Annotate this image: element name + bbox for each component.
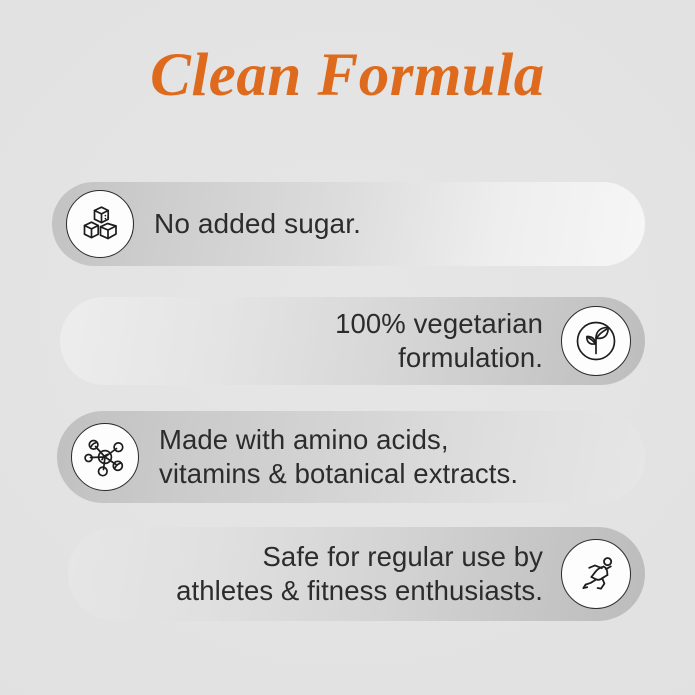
sprout-leaf-icon: [561, 306, 631, 376]
feature-label-vegetarian-formulation: 100% vegetarian formulation.: [335, 307, 543, 375]
feature-label-safe-for-athletes: Safe for regular use by athletes & fitne…: [176, 540, 543, 608]
sugar-cubes-icon: [66, 190, 134, 258]
page-title: Clean Formula: [0, 44, 695, 108]
feature-row-amino-acids-vitamins: Made with amino acids, vitamins & botani…: [57, 411, 645, 503]
clean-formula-poster: Clean Formula No a: [0, 0, 695, 695]
feature-row-safe-for-athletes: Safe for regular use by athletes & fitne…: [68, 527, 645, 621]
molecule-icon: [71, 423, 139, 491]
feature-label-amino-acids-vitamins: Made with amino acids, vitamins & botani…: [159, 423, 518, 491]
feature-row-no-added-sugar: No added sugar.: [52, 182, 645, 266]
page-title-container: Clean Formula: [0, 44, 695, 108]
running-person-icon: [561, 539, 631, 609]
feature-row-vegetarian-formulation: 100% vegetarian formulation.: [60, 297, 645, 385]
feature-label-no-added-sugar: No added sugar.: [154, 207, 361, 242]
